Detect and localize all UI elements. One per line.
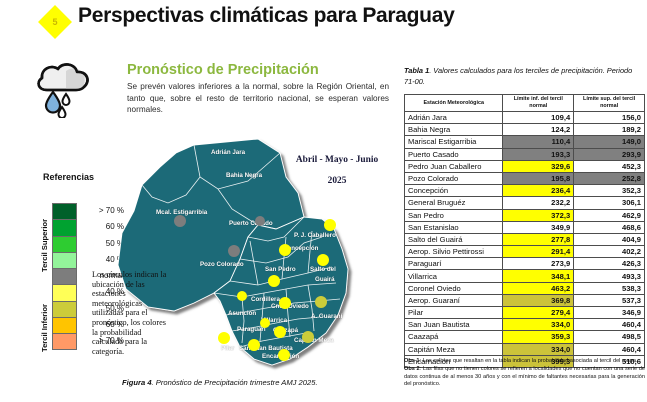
cell-lower-limit: 291,4 [503, 246, 574, 258]
cell-station: Coronel Oviedo [405, 282, 503, 294]
map-label-18: Pilar [221, 345, 234, 352]
cell-upper-limit: 537,3 [574, 294, 645, 306]
figure-caption-text: . Pronóstico de Precipitación trimestre … [152, 378, 318, 387]
map-label-4: P. J. Caballero [294, 232, 336, 239]
cell-lower-limit: 236,4 [503, 185, 574, 197]
map-label-3: Puerto Casado [229, 220, 273, 227]
cell-lower-limit: 359,3 [503, 331, 574, 343]
cell-lower-limit: 277,8 [503, 233, 574, 245]
map-station-dot[interactable] [302, 331, 314, 343]
cell-station: Pozo Colorado [405, 172, 503, 184]
table-row: San Estanislao349,9468,6 [405, 221, 645, 233]
table-row: General Bruguéz232,2306,1 [405, 197, 645, 209]
table-row: Aerop. Guaraní369,8537,3 [405, 294, 645, 306]
legend-axis-upper: Tercil Superior [40, 219, 49, 272]
cell-lower-limit: 279,4 [503, 307, 574, 319]
map-label-8: Salto del [310, 266, 336, 273]
cell-upper-limit: 149,0 [574, 136, 645, 148]
cell-lower-limit: 334,0 [503, 343, 574, 355]
legend-swatch-0 [52, 203, 77, 219]
cell-station: Villarrica [405, 270, 503, 282]
map-station-dot[interactable] [279, 244, 291, 256]
cell-upper-limit: 306,1 [574, 197, 645, 209]
map-station-dot[interactable] [315, 296, 327, 308]
table-row: San Juan Bautista334,0460,4 [405, 319, 645, 331]
cell-station: Aerop. Guaraní [405, 294, 503, 306]
cell-station: Aerop. Silvio Pettirossi [405, 246, 503, 258]
table-caption-text: . Valores calculados para los terciles d… [404, 66, 632, 86]
map-season-label: Abril - Mayo - Junio [287, 155, 387, 165]
observation-note-1: Obs 1: Los colores que resaltan en la ta… [404, 358, 645, 365]
cell-upper-limit: 538,3 [574, 282, 645, 294]
cell-lower-limit: 372,3 [503, 209, 574, 221]
cell-lower-limit: 369,8 [503, 294, 574, 306]
table-row: Puerto Casado193,3293,9 [405, 148, 645, 160]
map-station-dot[interactable] [274, 326, 286, 338]
cell-station: Salto del Guairá [405, 233, 503, 245]
table-row: Pedro Juan Caballero329,6452,3 [405, 160, 645, 172]
table-header: Estación Meteorológica Límite inf. del t… [405, 95, 645, 112]
observation-label-2: Obs 2 [404, 366, 420, 372]
map-station-dot[interactable] [260, 318, 270, 328]
legend-axis-lower: Tercil Inferior [40, 304, 49, 352]
table-row: Concepción236,4352,3 [405, 185, 645, 197]
cell-upper-limit: 404,9 [574, 233, 645, 245]
cell-lower-limit: 334,0 [503, 319, 574, 331]
legend-swatch-3 [52, 252, 77, 268]
map-station-dot[interactable] [237, 291, 247, 301]
table-row: Paraguarí273,9426,3 [405, 258, 645, 270]
page-title: Perspectivas climáticas para Paraguay [78, 4, 454, 28]
cell-lower-limit: 195,8 [503, 172, 574, 184]
cell-lower-limit: 193,3 [503, 148, 574, 160]
col-lower-limit: Límite inf. del tercil normal [503, 95, 574, 112]
cell-lower-limit: 329,6 [503, 160, 574, 172]
cell-lower-limit: 273,9 [503, 258, 574, 270]
cell-station: Adrián Jara [405, 112, 503, 124]
table-row: Coronel Oviedo463,2538,3 [405, 282, 645, 294]
map-label-13: A. Guaraní [311, 313, 342, 320]
map-station-dot[interactable] [279, 297, 291, 309]
table-row: Caazapá359,3498,5 [405, 331, 645, 343]
cell-station: Mariscal Estigarribia [405, 136, 503, 148]
legend-swatch-4 [52, 268, 77, 284]
map-label-12: Asunción [228, 310, 256, 317]
forecast-block: Pronóstico de Precipitación Se prevén va… [127, 62, 389, 116]
cell-station: San Estanislao [405, 221, 503, 233]
cell-upper-limit: 346,9 [574, 307, 645, 319]
map-label-9: Guairá [315, 276, 335, 283]
cell-upper-limit: 252,8 [574, 172, 645, 184]
section-number-badge: 5 [38, 5, 72, 39]
map-station-dot[interactable] [278, 349, 290, 361]
legend-swatch-2 [52, 236, 77, 252]
table-body: Adrián Jara109,4156,0Bahia Negra124,2189… [405, 112, 645, 368]
col-upper-limit: Límite sup. del tercil normal [574, 95, 645, 112]
table-row: Bahia Negra124,2189,2 [405, 124, 645, 136]
map-year-label: 2025 [287, 176, 387, 186]
cell-station: Concepción [405, 185, 503, 197]
legend-swatch-1 [52, 219, 77, 235]
cell-station: General Bruguéz [405, 197, 503, 209]
cell-station: Caazapá [405, 331, 503, 343]
cell-lower-limit: 124,2 [503, 124, 574, 136]
cell-station: Paraguarí [405, 258, 503, 270]
cell-upper-limit: 468,6 [574, 221, 645, 233]
cell-lower-limit: 109,4 [503, 112, 574, 124]
cell-upper-limit: 156,0 [574, 112, 645, 124]
map-label-1: Bahia Negra [226, 172, 262, 179]
rain-cloud-icon [33, 60, 95, 118]
cell-station: Capitán Meza [405, 343, 503, 355]
table-row: Villarrica348,1493,3 [405, 270, 645, 282]
cell-upper-limit: 352,3 [574, 185, 645, 197]
cell-station: Pedro Juan Caballero [405, 160, 503, 172]
cell-station: Bahia Negra [405, 124, 503, 136]
cell-upper-limit: 460,4 [574, 343, 645, 355]
table-row: San Pedro372,3462,9 [405, 209, 645, 221]
figure-caption: Figura 4. Pronóstico de Precipitación tr… [122, 378, 318, 387]
table-row: Capitán Meza334,0460,4 [405, 343, 645, 355]
cell-upper-limit: 426,3 [574, 258, 645, 270]
table-row: Aerop. Silvio Pettirossi291,4402,2 [405, 246, 645, 258]
map-station-dot[interactable] [268, 275, 280, 287]
forecast-title: Pronóstico de Precipitación [127, 62, 389, 78]
cell-upper-limit: 498,5 [574, 331, 645, 343]
map-station-dot[interactable] [174, 215, 186, 227]
observation-text-1: : Los colores que resaltan en la tabla i… [420, 358, 638, 364]
cell-station: San Pedro [405, 209, 503, 221]
table-caption: Tabla 1. Valores calculados para los ter… [404, 66, 644, 87]
figure-caption-label: Figura 4 [122, 378, 152, 387]
col-station: Estación Meteorológica [405, 95, 503, 112]
table-row: Salto del Guairá277,8404,9 [405, 233, 645, 245]
map-label-7: San Pedro [265, 266, 296, 273]
cell-station: San Juan Bautista [405, 319, 503, 331]
map-station-dot[interactable] [255, 216, 265, 226]
table-row: Mariscal Estigarribia110,4149,0 [405, 136, 645, 148]
forecast-body: Se prevén valores inferiores a la normal… [127, 81, 389, 116]
map-station-dot[interactable] [218, 332, 230, 344]
cell-lower-limit: 349,9 [503, 221, 574, 233]
cell-upper-limit: 402,2 [574, 246, 645, 258]
cell-upper-limit: 460,4 [574, 319, 645, 331]
map-label-10: Cordillera [251, 296, 280, 303]
legend-swatch-7 [52, 317, 77, 333]
terciles-table: Estación Meteorológica Límite inf. del t… [404, 94, 645, 368]
table-row: Pozo Colorado195,8252,8 [405, 172, 645, 184]
cell-upper-limit: 493,3 [574, 270, 645, 282]
legend-swatch-6 [52, 301, 77, 317]
map-label-0: Adrián Jara [211, 149, 245, 156]
cell-upper-limit: 462,9 [574, 209, 645, 221]
legend-title: Referencias [43, 172, 94, 182]
cell-lower-limit: 348,1 [503, 270, 574, 282]
map-station-dot[interactable] [317, 254, 329, 266]
map-circles-note: Los círculos indican la ubicación de las… [92, 270, 170, 356]
cell-upper-limit: 452,3 [574, 160, 645, 172]
observation-label-1: Obs 1 [404, 358, 420, 364]
table-row: Pilar279,4346,9 [405, 307, 645, 319]
table-caption-label: Tabla 1 [404, 66, 429, 75]
cell-station: Pilar [405, 307, 503, 319]
section-number-label: 5 [38, 5, 72, 39]
observation-note-2: Obs 2: Las filas que no tienen colores s… [404, 366, 645, 388]
map-station-dot[interactable] [228, 245, 240, 257]
map-station-dot[interactable] [324, 219, 336, 231]
legend-swatch-5 [52, 284, 77, 300]
legend-swatches [52, 203, 77, 350]
page-header: 5 Perspectivas climáticas para Paraguay [0, 0, 647, 44]
map-station-dot[interactable] [248, 339, 260, 351]
legend-swatch-8 [52, 333, 77, 349]
table-observations: Obs 1: Los colores que resaltan en la ta… [404, 358, 645, 390]
table-row: Adrián Jara109,4156,0 [405, 112, 645, 124]
cell-upper-limit: 189,2 [574, 124, 645, 136]
cell-upper-limit: 293,9 [574, 148, 645, 160]
observation-text-2: : Las filas que no tienen colores se ref… [404, 366, 645, 387]
cell-lower-limit: 110,4 [503, 136, 574, 148]
map-label-6: Pozo Colorado [200, 261, 244, 268]
table-header-row: Estación Meteorológica Límite inf. del t… [405, 95, 645, 112]
cell-station: Puerto Casado [405, 148, 503, 160]
cell-lower-limit: 232,2 [503, 197, 574, 209]
cell-lower-limit: 463,2 [503, 282, 574, 294]
